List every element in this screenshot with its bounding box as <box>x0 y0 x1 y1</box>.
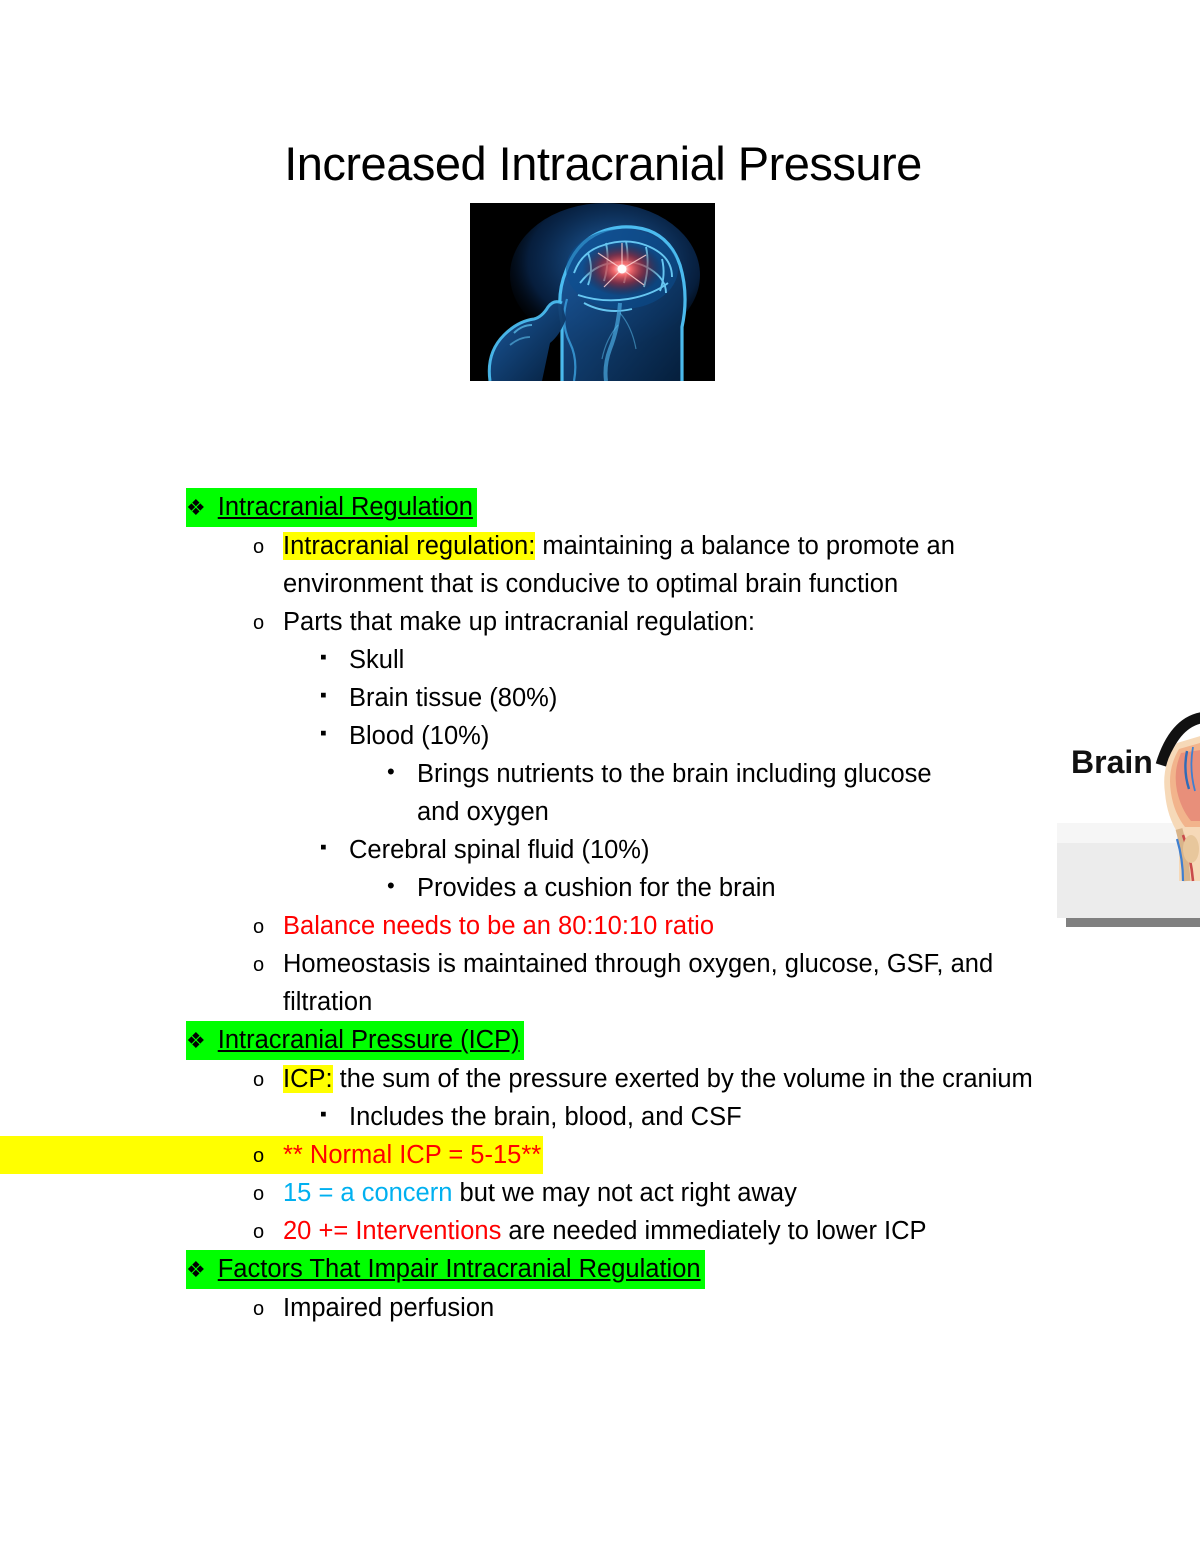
bullet-level3-icon: ▪ <box>320 677 327 715</box>
section-heading-factors-impair: ❖Factors That Impair Intracranial Regula… <box>0 1250 1060 1289</box>
list-item: o Homeostasis is maintained through oxyg… <box>0 945 1060 1021</box>
list-item-lead: 15 = a concern <box>283 1179 452 1207</box>
section-heading-text: Factors That Impair Intracranial Regulat… <box>218 1255 701 1283</box>
list-item-text: ICP: the sum of the pressure exerted by … <box>283 1060 1043 1098</box>
heading-highlight: ❖Intracranial Pressure (ICP) <box>186 1021 524 1060</box>
list-item-text: Balance needs to be an 80:10:10 ratio <box>283 907 1043 945</box>
document-page: Increased Intracranial Pressure <box>0 0 1200 1553</box>
list-item: ▪ Cerebral spinal fluid (10%) <box>0 831 1060 869</box>
outline-body: ❖Intracranial Regulation o Intracranial … <box>0 488 1060 1327</box>
brain-pain-illustration <box>470 203 715 381</box>
bullet-level2-icon: o <box>253 528 264 566</box>
bullet-level2-icon: o <box>253 604 264 642</box>
brain-anatomy-illustration: Brain <box>1057 703 1200 918</box>
list-item-text: Skull <box>349 641 1049 679</box>
section-heading-text: Intracranial Pressure (ICP) <box>218 1026 520 1054</box>
list-item: ▪ Skull <box>0 641 1060 679</box>
list-item: o Intracranial regulation: maintaining a… <box>0 527 1060 603</box>
list-item-text: Blood (10%) <box>349 717 1049 755</box>
section-heading-intracranial-regulation: ❖Intracranial Regulation <box>0 488 1060 527</box>
list-item-text: Brings nutrients to the brain including … <box>417 755 957 831</box>
list-item-text: Cerebral spinal fluid (10%) <box>349 831 1049 869</box>
list-item-lead: 20 += Interventions <box>283 1217 501 1245</box>
list-item-text: Intracranial regulation: maintaining a b… <box>283 527 1043 603</box>
brain-pain-illustration-graphic <box>470 203 715 381</box>
brain-anatomy-label: Brain <box>1071 744 1153 780</box>
list-item: • Provides a cushion for the brain <box>0 869 1060 907</box>
list-item-text: ** Normal ICP = 5-15** <box>283 1136 541 1174</box>
list-item-text: Provides a cushion for the brain <box>417 869 957 907</box>
highlighted-term: Intracranial regulation: <box>283 532 535 560</box>
bullet-level3-icon: ▪ <box>320 1096 327 1134</box>
bullet-level2-icon: o <box>253 1137 264 1175</box>
list-item: ▪ Includes the brain, blood, and CSF <box>0 1098 1060 1136</box>
section-heading-text: Intracranial Regulation <box>218 493 473 521</box>
bullet-level1-icon: ❖ <box>186 1028 206 1053</box>
list-item: ▪ Blood (10%) <box>0 717 1060 755</box>
bullet-level4-icon: • <box>387 753 395 791</box>
list-item-text: 20 += Interventions are needed immediate… <box>283 1212 1043 1250</box>
bullet-level2-icon: o <box>253 1175 264 1213</box>
list-item: o Parts that make up intracranial regula… <box>0 603 1060 641</box>
bullet-level1-icon: ❖ <box>186 495 206 520</box>
section-heading-intracranial-pressure: ❖Intracranial Pressure (ICP) <box>0 1021 1060 1060</box>
bullet-level1-icon: ❖ <box>186 1257 206 1282</box>
list-item-rest: are needed immediately to lower ICP <box>501 1217 926 1245</box>
bullet-level2-icon: o <box>253 908 264 946</box>
list-item: ▪ Brain tissue (80%) <box>0 679 1060 717</box>
bullet-level2-icon: o <box>253 1213 264 1251</box>
brain-anatomy-graphic: Brain <box>1057 703 1200 918</box>
page-title: Increased Intracranial Pressure <box>0 138 1200 190</box>
list-item-rest: but we may not act right away <box>452 1179 796 1207</box>
list-item: o 15 = a concern but we may not act righ… <box>0 1174 1060 1212</box>
list-item-text: Homeostasis is maintained through oxygen… <box>283 945 1043 1021</box>
bullet-level2-icon: o <box>253 946 264 984</box>
bullet-level3-icon: ▪ <box>320 715 327 753</box>
list-item: o Impaired perfusion <box>0 1289 1060 1327</box>
highlighted-term: ICP: <box>283 1065 333 1093</box>
list-item-text: Impaired perfusion <box>283 1289 1043 1327</box>
bullet-level3-icon: ▪ <box>320 639 327 677</box>
list-item-rest: the sum of the pressure exerted by the v… <box>333 1065 1033 1093</box>
list-item: • Brings nutrients to the brain includin… <box>0 755 1060 831</box>
bullet-level2-icon: o <box>253 1290 264 1328</box>
list-item: o ** Normal ICP = 5-15** <box>0 1136 543 1174</box>
list-item-text: Includes the brain, blood, and CSF <box>349 1098 1049 1136</box>
heading-highlight: ❖Intracranial Regulation <box>186 488 477 527</box>
bullet-level3-icon: ▪ <box>320 829 327 867</box>
list-item: o 20 += Interventions are needed immedia… <box>0 1212 1060 1250</box>
list-item-text: Parts that make up intracranial regulati… <box>283 603 1043 641</box>
brain-anatomy-frame: Brain <box>1057 703 1200 918</box>
bullet-level4-icon: • <box>387 867 395 905</box>
list-item: o Balance needs to be an 80:10:10 ratio <box>0 907 1060 945</box>
heading-highlight: ❖Factors That Impair Intracranial Regula… <box>186 1250 705 1289</box>
list-item: o ICP: the sum of the pressure exerted b… <box>0 1060 1060 1098</box>
list-item-text: 15 = a concern but we may not act right … <box>283 1174 1043 1212</box>
bullet-level2-icon: o <box>253 1061 264 1099</box>
list-item-text: Brain tissue (80%) <box>349 679 1049 717</box>
